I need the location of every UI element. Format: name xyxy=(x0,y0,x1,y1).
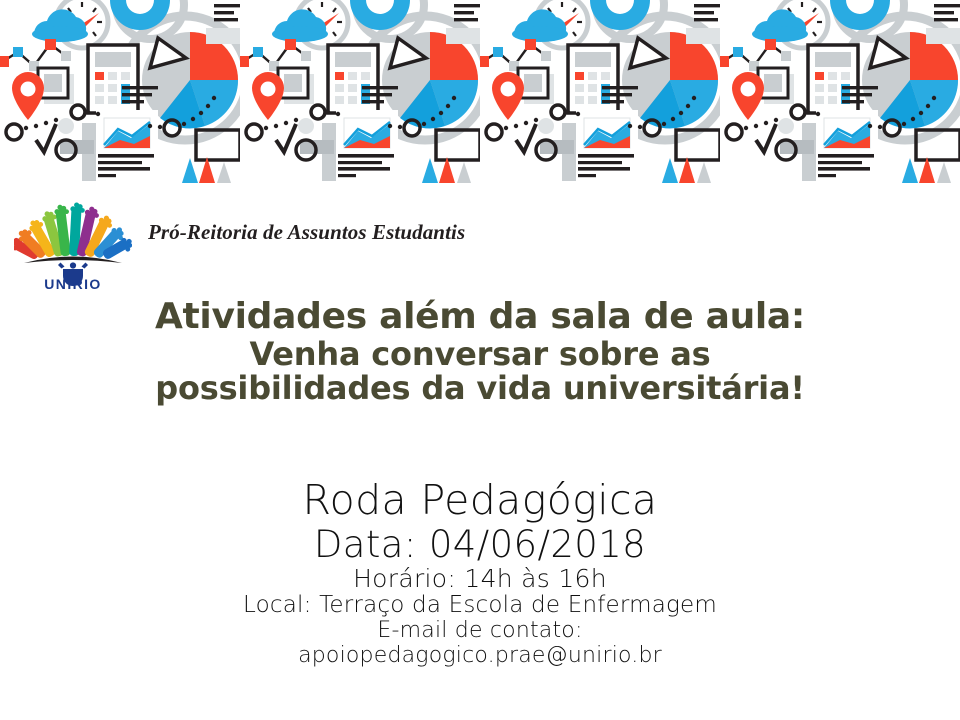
brand-header: UNIRIO Pró-Reitoria de Assuntos Estudant… xyxy=(14,194,534,294)
event-time: Horário: 14h às 16h xyxy=(0,565,960,593)
event-details: Roda Pedagógica Data: 04/06/2018 Horário… xyxy=(0,478,960,668)
headline-line-2: Venha conversar sobre as xyxy=(0,337,960,372)
banner-tile xyxy=(720,0,960,188)
poster-canvas: UNIRIO Pró-Reitoria de Assuntos Estudant… xyxy=(0,0,960,720)
unirio-wordmark: UNIRIO xyxy=(44,276,101,292)
contact-email: apoiopedagogico.prae@unirio.br xyxy=(0,644,960,669)
infographic-banner xyxy=(0,0,960,188)
page-title: Atividades além da sala de aula: Venha c… xyxy=(0,298,960,406)
unirio-logo: UNIRIO xyxy=(14,194,132,292)
headline-line-3: possibilidades da vida universitária! xyxy=(0,371,960,406)
hands-group xyxy=(14,202,132,263)
event-location: Local: Terraço da Escola de Enfermagem xyxy=(0,593,960,619)
headline-line-1: Atividades além da sala de aula: xyxy=(0,298,960,337)
banner-tile xyxy=(0,0,240,188)
event-date: Data: 04/06/2018 xyxy=(0,524,960,565)
email-label: E-mail de contato: xyxy=(0,619,960,644)
event-name: Roda Pedagógica xyxy=(0,478,960,524)
department-title: Pró-Reitoria de Assuntos Estudantis xyxy=(148,220,465,245)
banner-tile xyxy=(480,0,720,188)
banner-tile xyxy=(240,0,480,188)
